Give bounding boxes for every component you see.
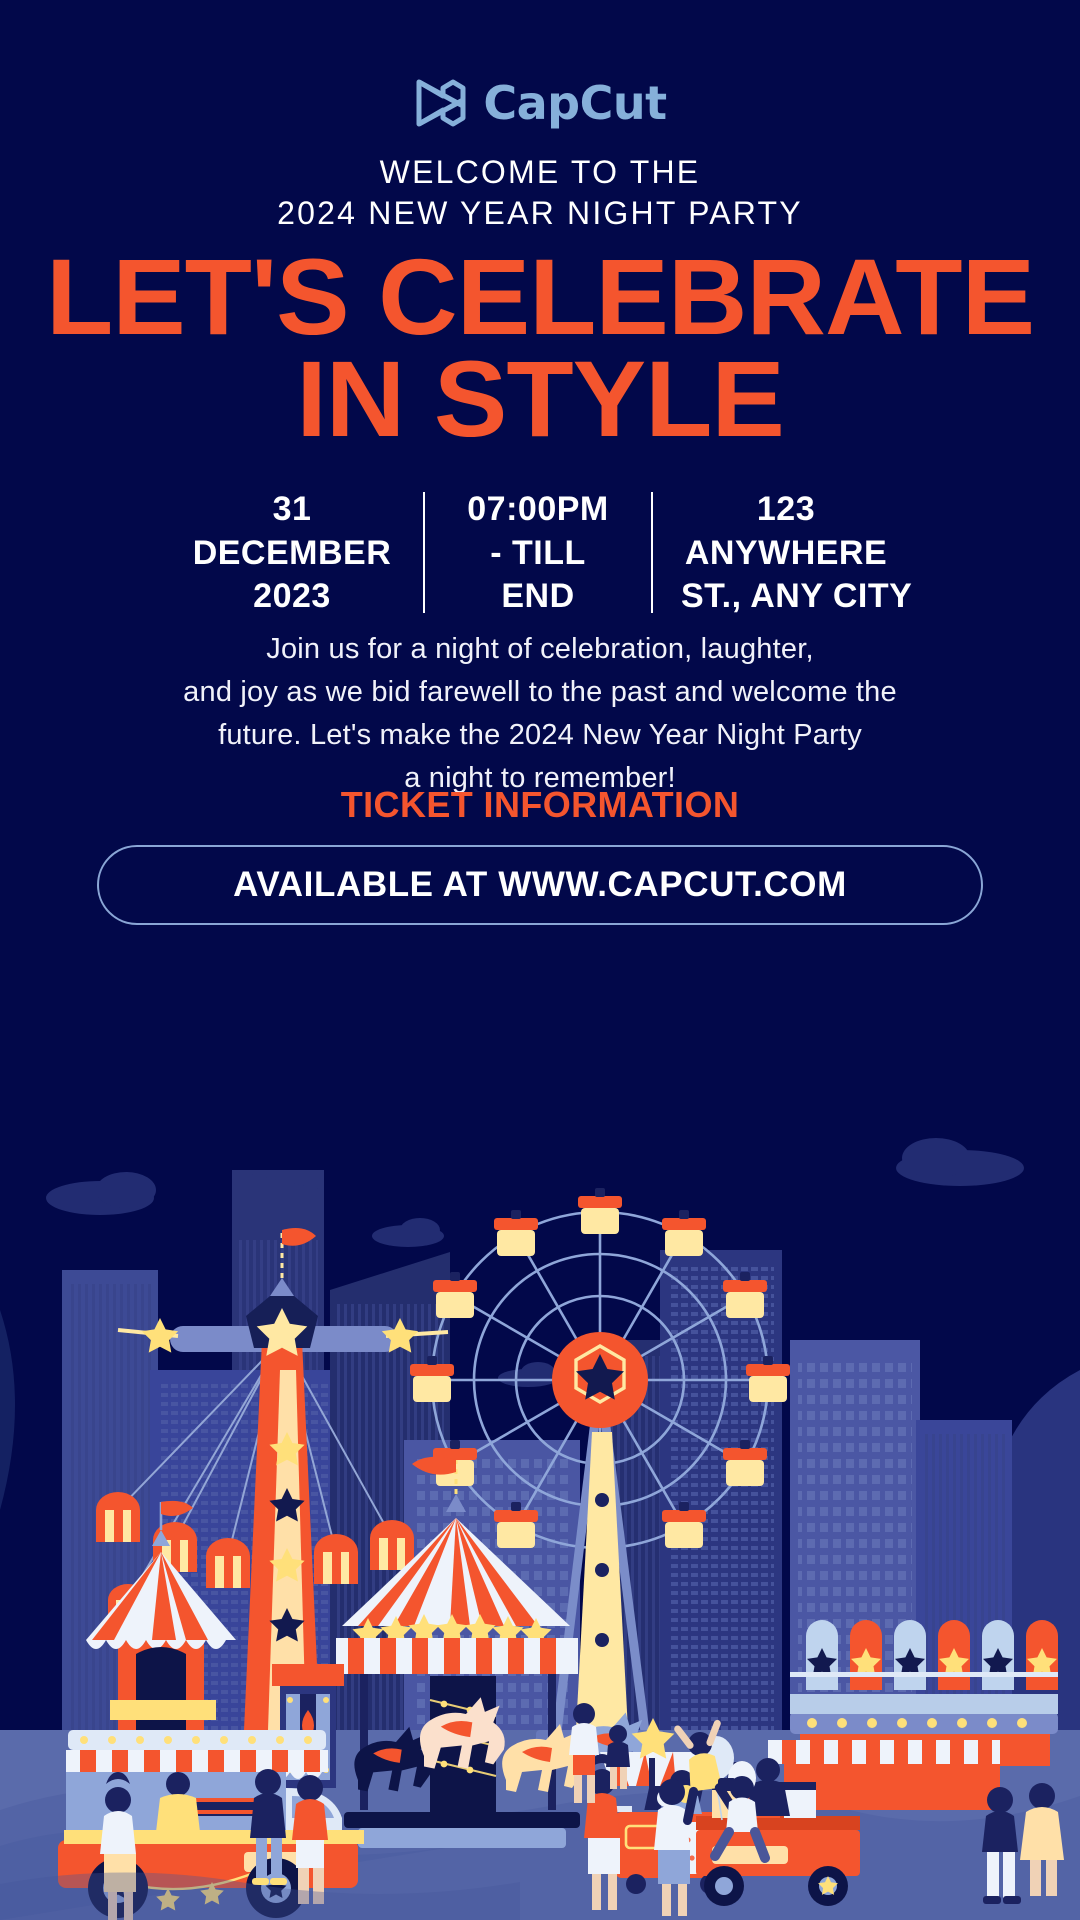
detail-time-till: - TILL [453,532,623,576]
detail-time-end: END [453,575,623,619]
ticket-availability-label: AVAILABLE AT WWW.CAPCUT.COM [233,865,847,905]
capcut-logo-text: CapCut [483,80,666,126]
capcut-logo-icon [413,78,469,128]
welcome-line-2: 2024 NEW YEAR NIGHT PARTY [0,193,1080,234]
detail-time-start: 07:00PM [453,488,623,532]
body-line-1: Join us for a night of celebration, laug… [0,628,1080,671]
booth-awning [768,1740,1000,1764]
capcut-logo: CapCut [0,78,1080,128]
headline-line-2: IN STYLE [0,348,1080,450]
body-line-2: and joy as we bid farewell to the past a… [0,671,1080,714]
detail-time: 07:00PM - TILL END [425,488,651,619]
poster-canvas: CapCut WELCOME TO THE 2024 NEW YEAR NIGH… [0,0,1080,1920]
detail-location-city: ST., ANY CITY [681,575,891,619]
night-carnival-illustration [0,1040,1080,1920]
detail-location-street: ANYWHERE [681,532,891,576]
headline-line-1: LET'S CELEBRATE [0,246,1080,348]
body-paragraph: Join us for a night of celebration, laug… [0,628,1080,800]
detail-location-number: 123 [681,488,891,532]
detail-location: 123 ANYWHERE ST., ANY CITY [653,488,919,619]
welcome-heading: WELCOME TO THE 2024 NEW YEAR NIGHT PARTY [0,152,1080,234]
detail-date: 31 DECEMBER 2023 [161,488,423,619]
welcome-line-1: WELCOME TO THE [0,152,1080,193]
detail-date-day: 31 [189,488,395,532]
ticket-availability-button[interactable]: AVAILABLE AT WWW.CAPCUT.COM [97,845,983,925]
ticket-information-heading: TICKET INFORMATION [0,784,1080,826]
main-headline: LET'S CELEBRATE IN STYLE [0,246,1080,449]
body-line-3: future. Let's make the 2024 New Year Nig… [0,714,1080,757]
event-details-row: 31 DECEMBER 2023 07:00PM - TILL END 123 … [0,488,1080,619]
detail-date-year: 2023 [189,575,395,619]
detail-date-month: DECEMBER [189,532,395,576]
